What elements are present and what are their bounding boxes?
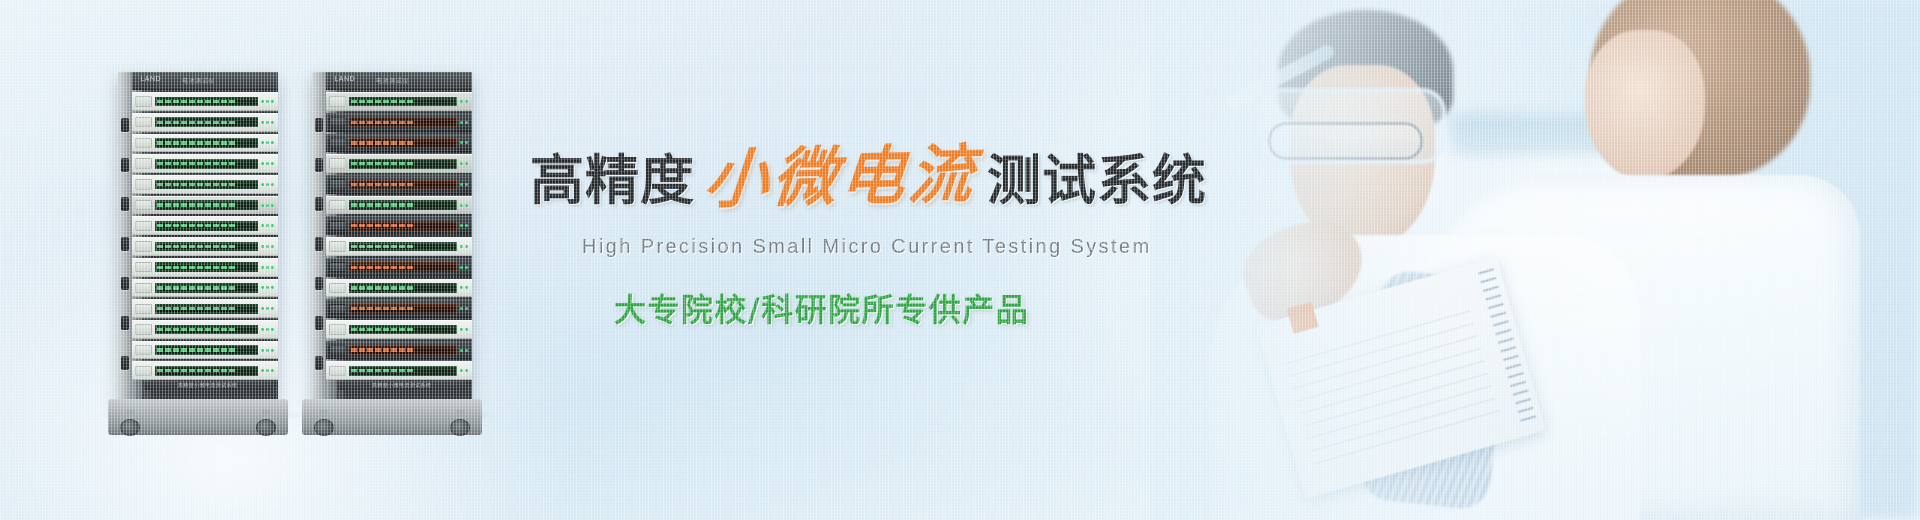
rack-unit xyxy=(326,216,472,235)
rack-unit xyxy=(326,175,472,194)
banner-subtitle-english: High Precision Small Micro Current Testi… xyxy=(582,236,1310,259)
rack-model-label: 电池测试仪 xyxy=(376,76,409,85)
rack-unit xyxy=(132,237,278,256)
rack-left-rail xyxy=(312,72,326,402)
rack-unit xyxy=(132,92,278,111)
rack-model-label: 电池测试仪 xyxy=(182,76,215,85)
rack-unit xyxy=(326,237,472,256)
rack-unit xyxy=(326,113,472,132)
equipment-rack-b: LAND 电池测试仪 xyxy=(312,72,472,402)
rack-unit xyxy=(132,113,278,132)
rack-unit xyxy=(326,92,472,111)
rack-unit xyxy=(132,341,278,360)
rack-frame: LAND 电池测试仪 xyxy=(312,72,472,402)
rack-unit xyxy=(326,299,472,318)
rack-unit-list xyxy=(132,90,278,382)
rack-unit xyxy=(326,196,472,215)
headline-suffix: 测试系统 xyxy=(987,136,1207,215)
rack-unit xyxy=(326,341,472,360)
rack-legend: 高精度小微电流测试系统 xyxy=(338,381,466,391)
rack-unit xyxy=(132,279,278,298)
headline-prefix: 高精度 xyxy=(530,136,695,215)
banner-tagline: 大专院校/科研院所专供产品 xyxy=(614,285,1310,331)
rack-unit xyxy=(326,134,472,153)
rack-frame: LAND 电池测试仪 xyxy=(118,72,278,402)
product-hero-banner: LAND 电池测试仪 xyxy=(0,0,1920,520)
rack-unit-list xyxy=(326,90,472,382)
rack-caster xyxy=(314,410,334,436)
rack-legend: 高精度小微电流测试系统 xyxy=(144,381,272,391)
rack-brand-label: LAND xyxy=(140,76,161,83)
rack-unit xyxy=(326,320,472,339)
rack-unit xyxy=(132,320,278,339)
banner-text-block: 高精度 小微电流 测试系统 High Precision Small Micro… xyxy=(530,126,1310,331)
rack-unit xyxy=(132,134,278,153)
rack-caster xyxy=(120,410,140,436)
rack-brand-label: LAND xyxy=(334,76,355,83)
banner-headline: 高精度 小微电流 测试系统 xyxy=(530,126,1310,218)
rack-unit xyxy=(132,361,278,380)
rack-unit xyxy=(132,258,278,277)
equipment-rack-a: LAND 电池测试仪 xyxy=(118,72,278,402)
rack-unit xyxy=(326,279,472,298)
rack-unit xyxy=(326,258,472,277)
rack-unit xyxy=(132,196,278,215)
rack-unit xyxy=(132,216,278,235)
rack-unit xyxy=(132,299,278,318)
rack-caster xyxy=(256,410,276,436)
rack-unit xyxy=(132,175,278,194)
rack-unit xyxy=(326,154,472,173)
rack-left-rail xyxy=(118,72,132,402)
headline-highlight: 小微电流 xyxy=(701,123,981,221)
rack-unit xyxy=(326,361,472,380)
instrument-racks: LAND 电池测试仪 xyxy=(0,0,520,520)
rack-unit xyxy=(132,154,278,173)
rack-caster xyxy=(450,410,470,436)
